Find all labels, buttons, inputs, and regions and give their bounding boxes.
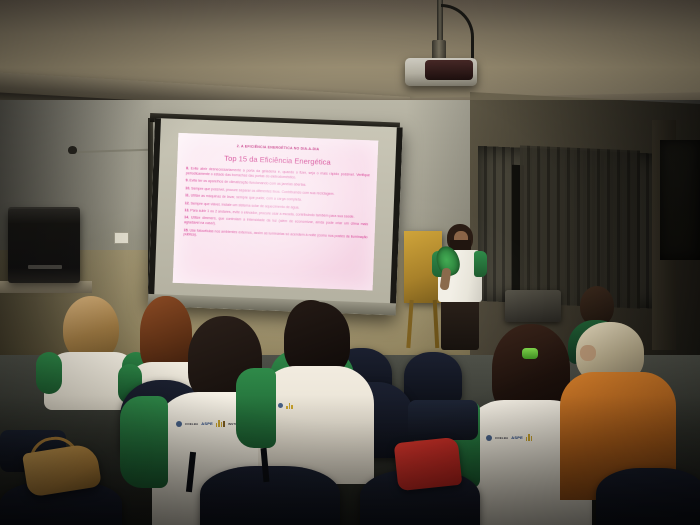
attendee-4-hair: [284, 302, 350, 376]
bullet-text: Sempre que viável, instale um sistema so…: [191, 201, 300, 209]
attendee-6-face: [580, 345, 596, 361]
bullet-text: Utilize as máquinas de lavar, sempre que…: [191, 194, 302, 202]
attendee-3-sleeve-left: [120, 396, 168, 488]
shirt-logo-group: COELBA ASPE INSTITUTO: [176, 420, 245, 427]
chair-back-2: [404, 352, 462, 404]
attendee-1-sleeve-left: [36, 352, 62, 394]
bullet-number: 9.: [186, 178, 189, 182]
projection-screen: 2. A EFICIÊNCIA ENERGÉTICA NO DIA-A-DIA …: [148, 118, 403, 315]
institute-logo-icon: [526, 434, 533, 441]
projected-slide: 2. A EFICIÊNCIA ENERGÉTICA NO DIA-A-DIA …: [173, 133, 379, 291]
shirt-logo-group-3: COELBA ASPE: [486, 434, 532, 441]
coelba-logo-icon: [278, 403, 283, 408]
projector-lens-icon: [425, 60, 473, 80]
bullet-number: 12.: [185, 201, 190, 205]
shirt-logo-2: ASPE: [511, 435, 523, 440]
slide-header: 2. A EFICIÊNCIA ENERGÉTICA NO DIA-A-DIA: [184, 142, 372, 153]
red-bag: [394, 437, 463, 491]
institute-logo-icon: [216, 420, 225, 427]
chair-front-4: [596, 468, 700, 525]
attendee-2-hair: [140, 296, 192, 372]
attendee-4-sleeve-left: [236, 368, 276, 448]
ceiling-sensor-icon: [68, 146, 77, 154]
shirt-logo-2: ASPE: [201, 421, 213, 426]
bullet-number: 15.: [184, 228, 189, 232]
wall-power-outlet: [114, 232, 129, 244]
bullet-number: 14.: [184, 216, 189, 220]
shirt-logo-group-2: [278, 402, 293, 409]
chair-front-1: [200, 466, 340, 525]
slide-bullet-list: 8. Evite abrir desnecessariamente a port…: [174, 166, 377, 245]
coelba-logo-icon: [486, 435, 492, 441]
classroom-presentation-photo: 2. A EFICIÊNCIA ENERGÉTICA NO DIA-A-DIA …: [0, 0, 700, 525]
institute-logo-icon: [286, 402, 293, 409]
shirt-logo-1: COELBA: [495, 436, 508, 440]
chair-seat-mid: [408, 400, 478, 440]
coelba-logo-icon: [176, 421, 182, 427]
green-hair-scrunchie: [522, 348, 538, 359]
bullet-number: 11.: [185, 193, 190, 197]
speaker-brand-label: [28, 265, 62, 269]
bullet-number: 10.: [185, 186, 190, 190]
wall-shelf-speaker: [8, 209, 80, 283]
presenter-sleeve-right: [474, 251, 487, 277]
bullet-number: 13.: [184, 208, 189, 212]
bullet-number: 8.: [186, 166, 189, 170]
shirt-logo-1: COELBA: [185, 422, 198, 426]
presenter-legs: [441, 298, 479, 350]
bullet-text: Evite abrir desnecessariamente a porta d…: [186, 166, 370, 179]
